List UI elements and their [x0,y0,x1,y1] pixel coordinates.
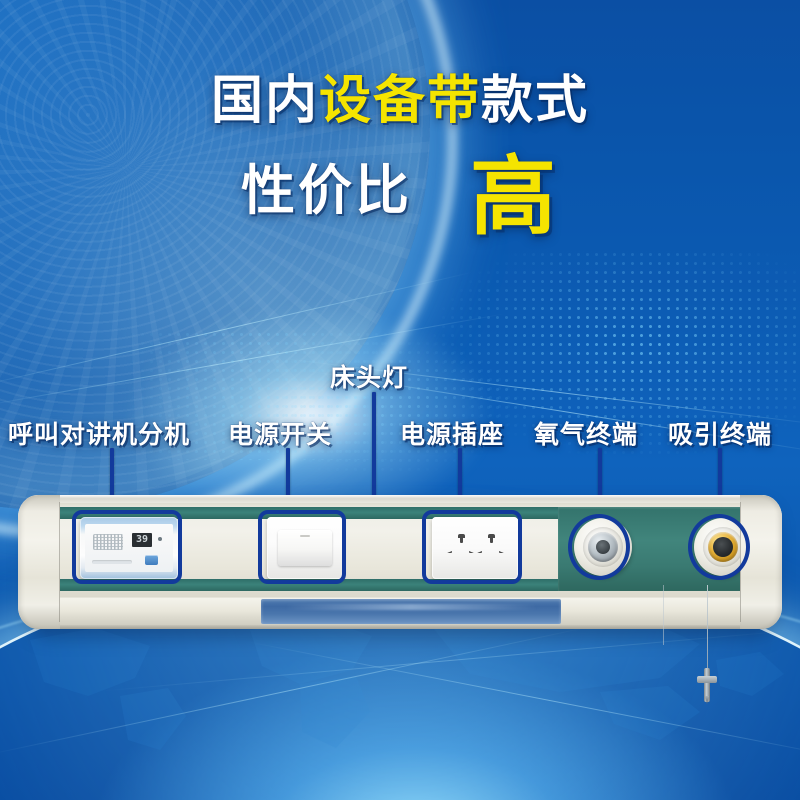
callout-label-oxygen: 氧气终端 [534,415,638,451]
callout-label-bedlamp: 床头灯 [330,358,408,394]
callout-label-switch: 电源开关 [228,415,332,451]
bed-head-unit-panel: 39 [18,495,782,640]
suction-probe-icon [697,668,717,702]
intercom-vent-slot [92,560,132,564]
headline-value-text: 性价比 [241,163,412,220]
headline-line-2: 性价比 高 [0,151,800,233]
banner-stage: 国内设备带款式 性价比 高 呼叫对讲机分机 电源开关 床头灯 电源插座 氧气终端… [0,0,800,800]
intercom-display: 39 [132,533,152,547]
speaker-grille-icon [93,534,123,550]
bed-lamp-diffuser[interactable] [261,599,561,624]
oxygen-terminal-icon[interactable] [574,518,632,576]
call-button-icon[interactable] [145,555,158,565]
universal-outlet-icon[interactable] [446,534,476,562]
panel-end-cap-right [740,495,782,629]
intercom-faceplate: 39 [85,524,173,572]
oxygen-cord [663,585,664,645]
suction-cord [707,585,708,670]
panel-stripe-bottom [58,579,558,591]
status-led-icon [158,537,162,541]
power-socket-plate[interactable] [432,517,518,579]
universal-outlet-icon[interactable] [476,534,506,562]
headline-suffix: 款式 [481,72,589,130]
headline-prefix: 国内 [211,72,319,130]
headline-line-1: 国内设备带款式 [0,74,800,129]
callout-label-socket: 电源插座 [400,415,504,451]
oxygen-terminal-port [596,540,610,554]
panel-end-cap-left [18,495,60,629]
headline-big-char: 高 [470,157,559,239]
callout-label-intercom: 呼叫对讲机分机 [8,415,190,451]
power-switch-plate[interactable] [267,517,343,579]
suction-terminal-port [713,537,733,557]
callout-label-suction: 吸引终端 [668,415,772,451]
rocker-switch-icon[interactable] [278,530,332,566]
headline-block: 国内设备带款式 性价比 高 [0,74,800,232]
nurse-call-intercom-unit[interactable]: 39 [80,517,178,579]
headline-accent: 设备带 [319,72,481,130]
panel-body: 39 [18,495,782,629]
